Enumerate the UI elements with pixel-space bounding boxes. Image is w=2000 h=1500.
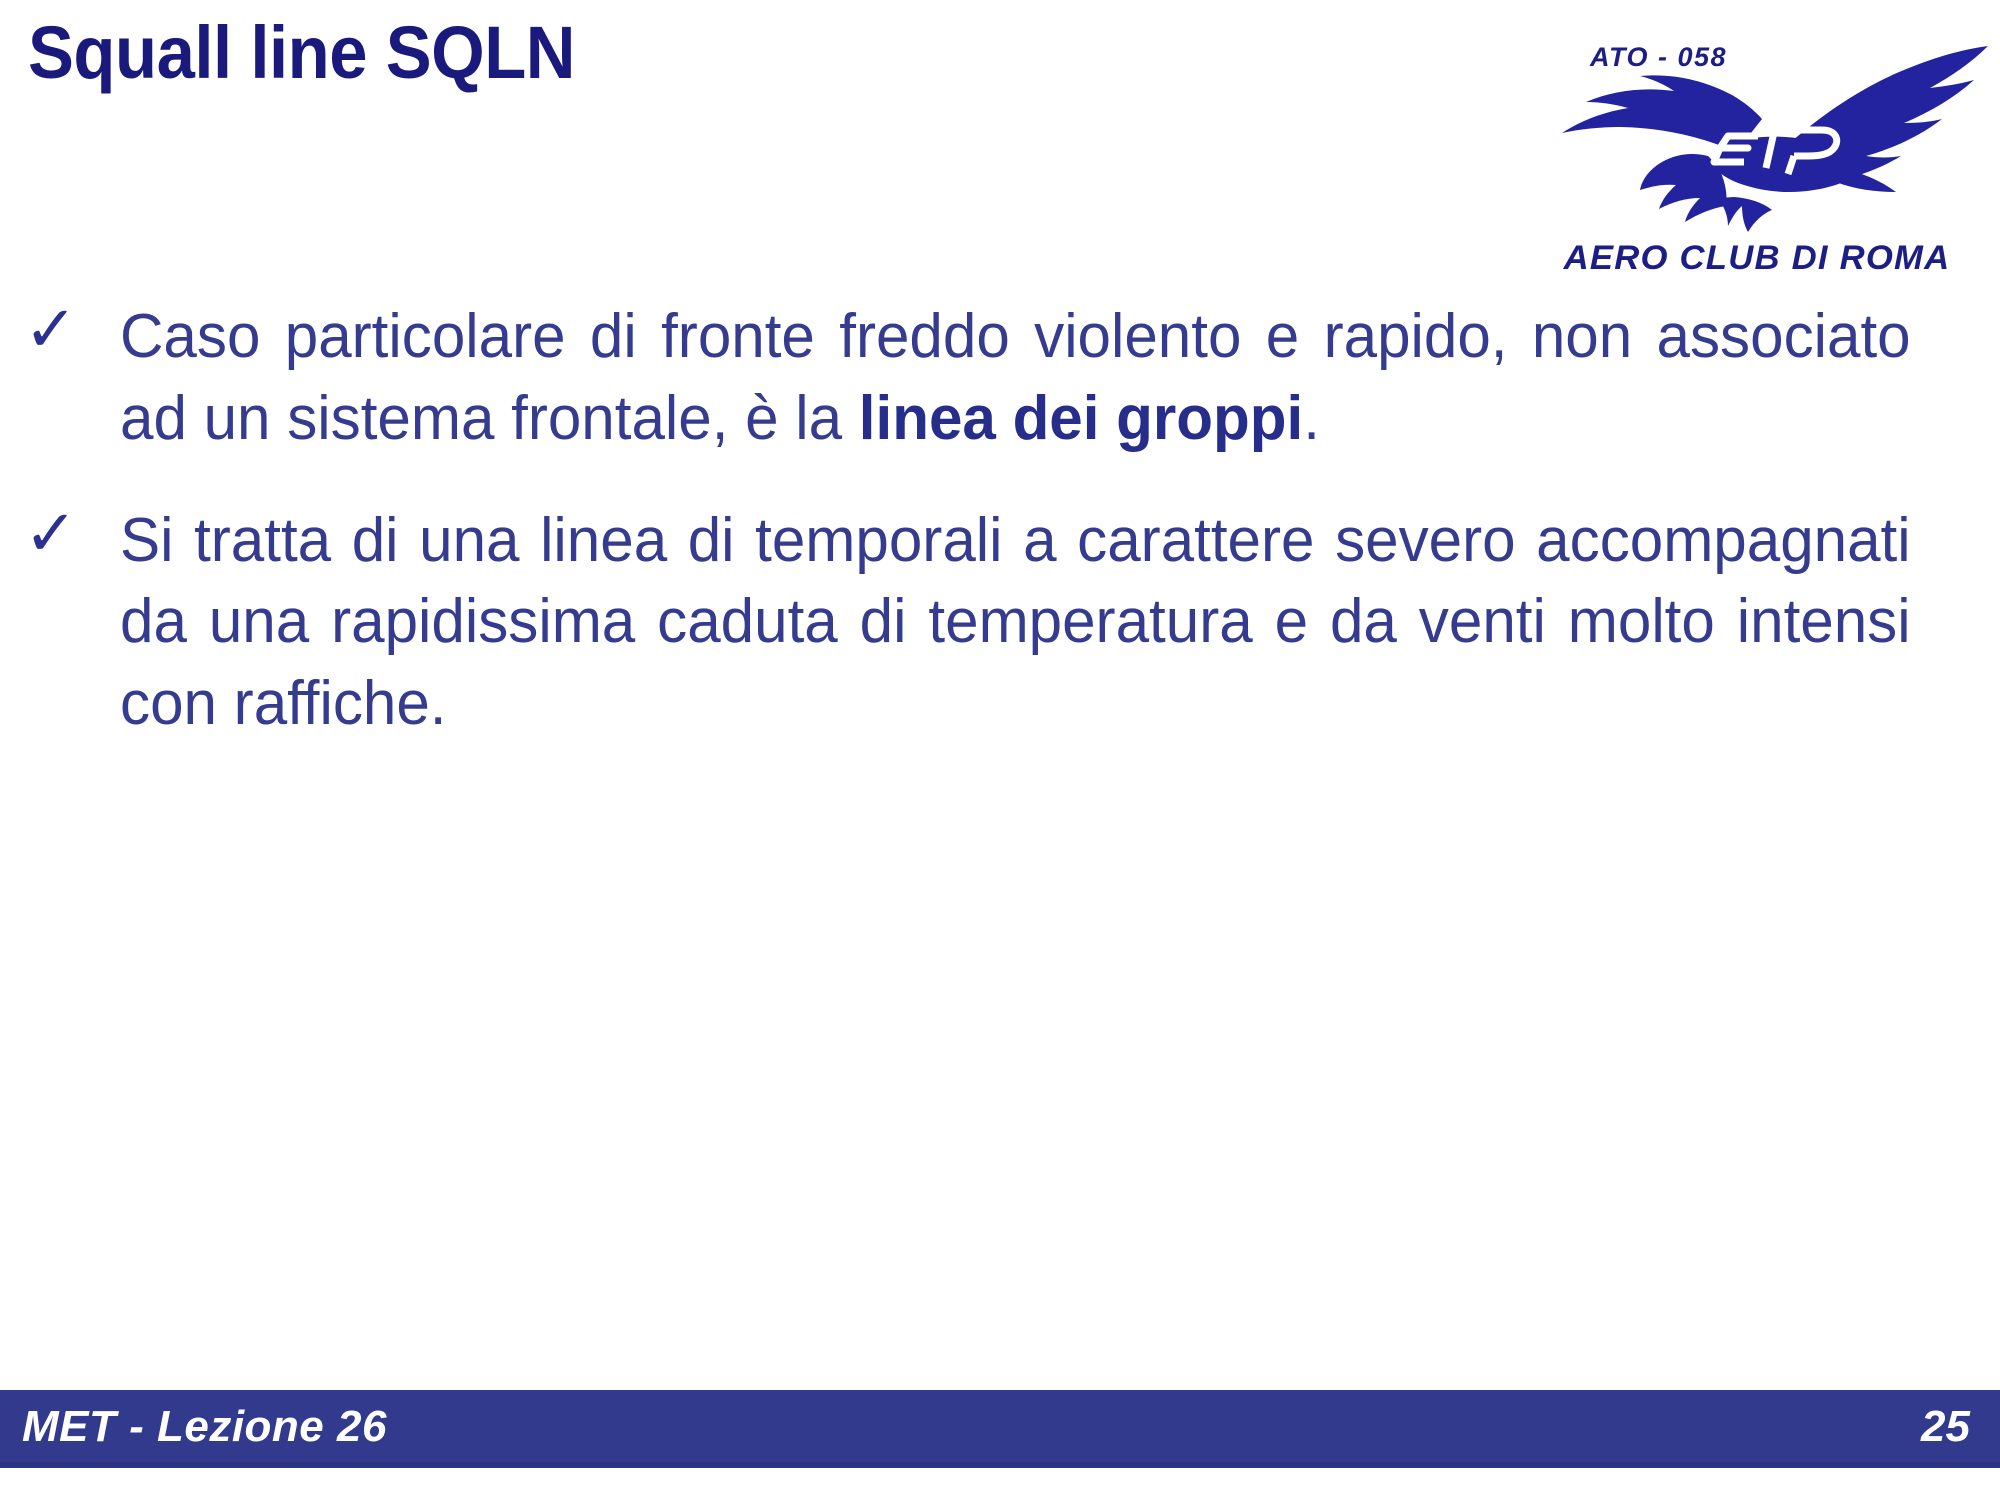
slide-body: ✓ Caso particolare di fronte freddo viol… — [0, 296, 2000, 785]
footer-lesson-label: MET - Lezione 26 — [22, 1402, 387, 1452]
bullet-text-run-bold: linea dei groppi — [859, 384, 1303, 453]
bullet-item: ✓ Caso particolare di fronte freddo viol… — [0, 296, 2000, 460]
club-name-label: AERO CLUB DI ROMA — [1517, 239, 1996, 278]
bullet-text-run: Si tratta di una linea di temporali a ca… — [120, 506, 1911, 739]
bullet-text-run-tail: . — [1303, 384, 1320, 453]
aero-club-logo: ATO - 058 — [1522, 20, 1992, 270]
footer-bar: MET - Lezione 26 25 — [0, 1390, 2000, 1468]
eagle-icon — [1522, 40, 1992, 235]
bullet-text: Caso particolare di fronte freddo violen… — [120, 296, 1911, 460]
bullet-text: Si tratta di una linea di temporali a ca… — [120, 500, 1911, 745]
bullet-item: ✓ Si tratta di una linea di temporali a … — [0, 500, 2000, 745]
page-number: 25 — [1921, 1402, 1970, 1452]
checkmark-icon: ✓ — [24, 298, 88, 362]
checkmark-icon: ✓ — [24, 502, 88, 566]
slide: Squall line SQLN ATO - 058 — [0, 0, 2000, 1500]
page-title: Squall line SQLN — [28, 14, 1330, 92]
